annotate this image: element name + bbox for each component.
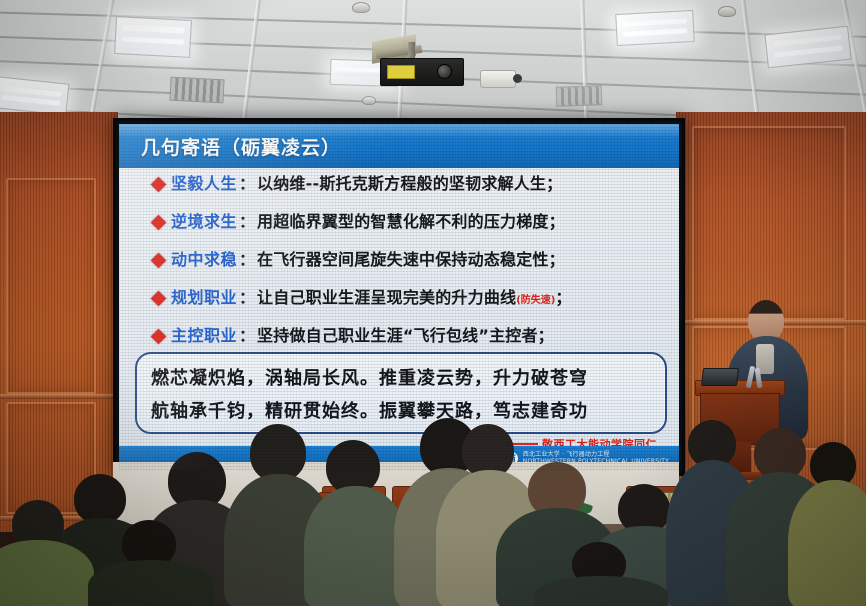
bullet-text: 用超临界翼型的智慧化解不利的压力梯度 (257, 208, 549, 232)
slide-header-bar: 几句寄语（砺翼凌云） (119, 124, 679, 168)
audience-member (540, 542, 658, 606)
bullet-keyword: 主控职业 (171, 322, 237, 346)
diamond-bullet-icon (151, 329, 167, 345)
smoke-detector-icon (718, 6, 736, 17)
diamond-bullet-icon (151, 253, 167, 269)
led-presentation-screen: 几句寄语（砺翼凌云） 坚毅人生 ： 以纳维--斯托克斯方程般的坚韧求解人生 ； … (113, 118, 685, 476)
ceiling-light-panel (114, 16, 192, 58)
ceiling-camera (480, 70, 516, 88)
bullet-colon: ： (239, 246, 255, 270)
bullet-item: 逆境求生 ： 用超临界翼型的智慧化解不利的压力梯度 ； (119, 208, 679, 246)
bullet-item: 动中求稳 ： 在飞行器空间尾旋失速中保持动态稳定性 ； (119, 246, 679, 284)
audience-member (798, 442, 866, 606)
bullet-item: 规划职业 ： 让自己职业生涯呈现完美的升力曲线 (防失速) ； (119, 284, 679, 322)
bullet-tail: ； (546, 170, 562, 194)
ceiling-vent (556, 85, 603, 107)
slide-bullet-list: 坚毅人生 ： 以纳维--斯托克斯方程般的坚韧求解人生 ； 逆境求生 ： 用超临界… (119, 170, 679, 360)
diamond-bullet-icon (151, 177, 167, 193)
projector-body (380, 58, 464, 86)
lecture-hall-scene: 几句寄语（砺翼凌云） 坚毅人生 ： 以纳维--斯托克斯方程般的坚韧求解人生 ； … (0, 0, 866, 606)
ceiling (0, 0, 866, 128)
poem-line-1: 燃芯凝炽焰，涡轴局长风。推重凌云势，升力破苍穹 (151, 362, 665, 395)
podium-laptop (701, 368, 739, 386)
poem-box: 燃芯凝炽焰，涡轴局长风。推重凌云势，升力破苍穹 航轴承千钧，精研贯始终。振翼攀天… (135, 352, 667, 434)
audience-member (314, 440, 394, 606)
ceiling-projector (372, 44, 462, 84)
bullet-keyword: 动中求稳 (171, 246, 237, 270)
bullet-tail: ； (538, 322, 554, 346)
logo-line-1: 西北工业大学 · 飞行器动力工程 (523, 451, 669, 458)
bullet-keyword: 逆境求生 (171, 208, 237, 232)
slide-content: 几句寄语（砺翼凌云） 坚毅人生 ： 以纳维--斯托克斯方程般的坚韧求解人生 ； … (119, 124, 679, 470)
smoke-detector-icon (362, 96, 376, 105)
bullet-note: (防失速) (516, 291, 555, 306)
ceiling-light-panel (615, 10, 695, 46)
bullet-colon: ： (239, 208, 255, 232)
bullet-keyword: 坚毅人生 (171, 170, 237, 194)
ceiling-vent (169, 77, 224, 104)
bullet-keyword: 规划职业 (171, 284, 237, 308)
audience-member (0, 500, 82, 606)
projector-label-icon (387, 65, 415, 79)
bullet-tail: ； (549, 246, 565, 270)
diamond-bullet-icon (151, 291, 167, 307)
bullet-colon: ： (239, 322, 255, 346)
audience-member (96, 520, 200, 606)
smoke-detector-icon (352, 2, 370, 13)
projector-lens-icon (437, 64, 452, 79)
bullet-text: 让自己职业生涯呈现完美的升力曲线 (257, 284, 516, 308)
bullet-tail: ； (555, 284, 571, 308)
wall-left-wood-panel (0, 112, 118, 532)
ceiling-light-panel (0, 76, 69, 115)
bullet-colon: ： (239, 170, 255, 194)
ceiling-light-panel (764, 26, 851, 69)
bullet-text: 以纳维--斯托克斯方程般的坚韧求解人生 (257, 170, 546, 194)
bullet-text: 坚持做自己职业生涯“飞行包线”主控者 (257, 322, 538, 346)
diamond-bullet-icon (151, 215, 167, 231)
bullet-text: 在飞行器空间尾旋失速中保持动态稳定性 (257, 246, 549, 270)
bullet-tail: ； (549, 208, 565, 232)
bullet-item: 坚毅人生 ： 以纳维--斯托克斯方程般的坚韧求解人生 ； (119, 170, 679, 208)
bullet-colon: ： (239, 284, 255, 308)
